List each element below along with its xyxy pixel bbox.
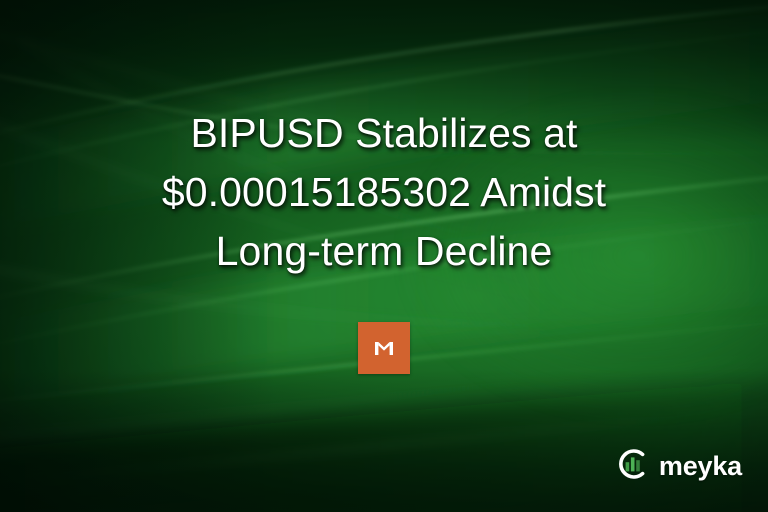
meyka-wordmark: meyka	[659, 453, 742, 480]
letter-m-icon	[371, 335, 397, 361]
headline-text: BIPUSD Stabilizes at $0.00015185302 Amid…	[0, 104, 768, 281]
social-card: BIPUSD Stabilizes at $0.00015185302 Amid…	[0, 0, 768, 512]
asset-logo-tile	[358, 322, 410, 374]
meyka-ring-barchart-icon	[614, 445, 652, 488]
meyka-brand-logo: meyka	[614, 445, 742, 488]
